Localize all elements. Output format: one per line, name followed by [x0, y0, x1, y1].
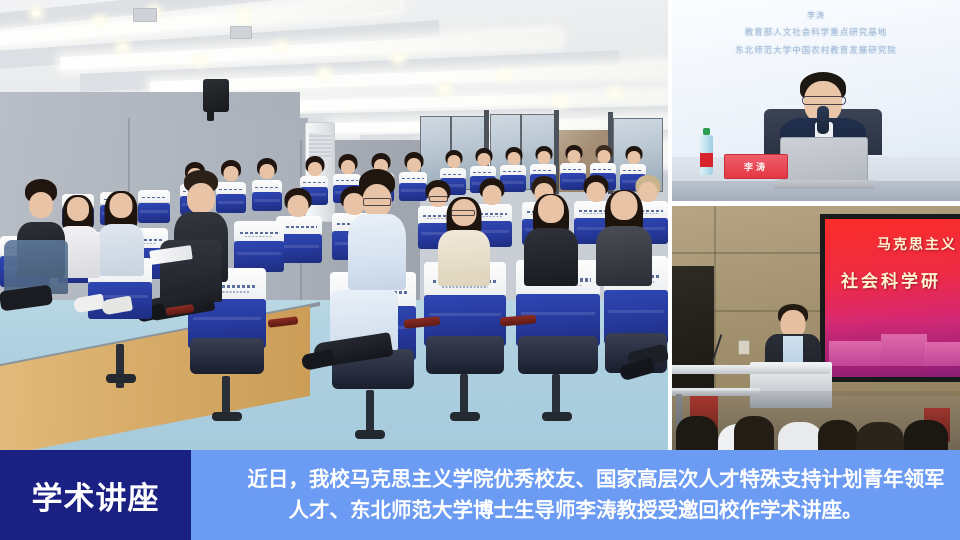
poster-stage: 李涛 教育部人文社会科学重点研究基地 东北师范大学中国农村教育发展研究院 李涛: [0, 0, 960, 540]
person-student-5: [602, 184, 646, 280]
audience-head: [818, 420, 858, 450]
screen-subtitle-line-1: 教育部人文社会科学重点研究基地: [672, 26, 960, 38]
audience-head: [778, 422, 822, 450]
audience-head: [676, 416, 718, 450]
audience-head: [856, 422, 904, 450]
person-student-4: [530, 188, 572, 280]
speaker-at-podium-photo: 马克思主义 社会科学研: [672, 206, 960, 450]
red-screen-line-2: 社会科学研: [841, 267, 941, 292]
microphone-icon: [817, 106, 829, 134]
laptop: [780, 137, 868, 181]
banner-tag: 学术讲座: [0, 450, 191, 540]
person-student-glasses: [444, 192, 484, 282]
banner-body: 近日，我校马克思主义学院优秀校友、国家高层次人才特殊支持计划青年领军人才、东北师…: [191, 450, 960, 540]
audience-head: [734, 416, 774, 450]
red-screen-line-1: 马克思主义: [877, 234, 957, 254]
glasses-icon: [802, 96, 846, 105]
screen-title-line: 李涛: [672, 10, 960, 21]
wall-switch: [738, 340, 750, 355]
auditorium-audience-photo: [0, 0, 668, 450]
water-bottle: [700, 135, 713, 175]
banner-caption: 近日，我校马克思主义学院优秀校友、国家高层次人才特殊支持计划青年领军人才、东北师…: [206, 464, 944, 526]
person-front-white-shirt: [355, 178, 399, 288]
audience-head: [904, 420, 948, 450]
red-projection-screen: 马克思主义 社会科学研: [820, 214, 960, 382]
wall-dark-panel: [672, 266, 714, 394]
bottom-banner: 学术讲座 近日，我校马克思主义学院优秀校友、国家高层次人才特殊支持计划青年领军人…: [0, 450, 960, 540]
nameplate: 李涛: [724, 154, 788, 179]
ceiling-speaker-icon: [203, 79, 229, 112]
podium-top: [672, 365, 830, 374]
person-student-1: [102, 186, 140, 268]
banner-tag-label: 学术讲座: [32, 473, 160, 518]
nameplate-text: 李涛: [744, 160, 768, 173]
campus-building-image: [825, 317, 960, 377]
speaker-at-table-photo: 李涛 教育部人文社会科学重点研究基地 东北师范大学中国农村教育发展研究院 李涛: [672, 0, 960, 201]
screen-subtitle-line-2: 东北师范大学中国农村教育发展研究院: [672, 44, 960, 56]
